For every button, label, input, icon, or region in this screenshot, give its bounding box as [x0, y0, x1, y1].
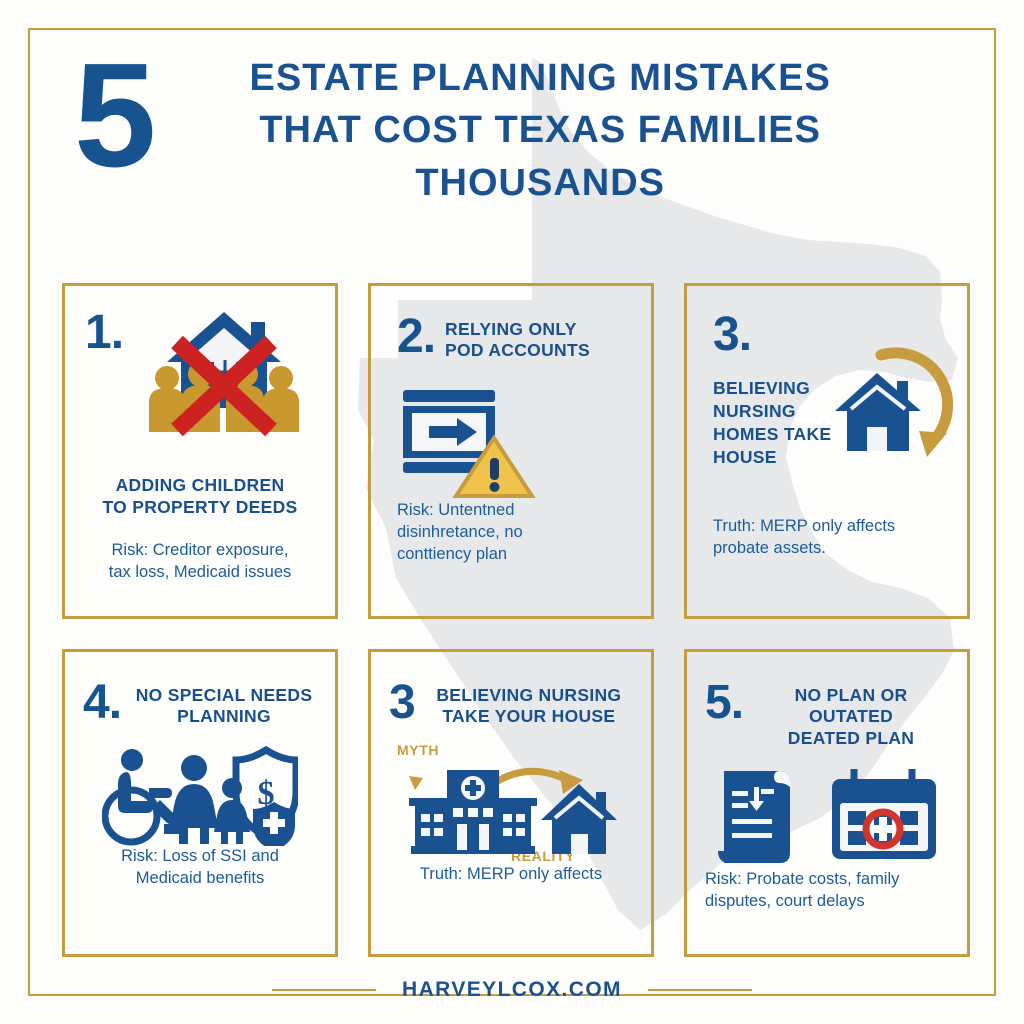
- card-1-risk-line-2: tax loss, Medicaid issues: [85, 562, 315, 584]
- special-needs-shield-icon: $: [83, 746, 317, 846]
- card-4-risk-line-2: Medicaid benefits: [83, 868, 317, 890]
- card-2-title: RELYING ONLY POD ACCOUNTS: [445, 316, 625, 362]
- scroll-calendar-icon: [705, 765, 949, 869]
- card-1-number: 1.: [85, 312, 123, 353]
- card-3-title-line-3: HOMES TAKE: [713, 423, 831, 446]
- card-5-title: BELIEVING NURSING TAKE YOUR HOUSE: [425, 682, 633, 728]
- footer: HARVEYLCOX.COM: [0, 978, 1024, 1002]
- card-2-risk-line-1: Risk: Untentned: [397, 500, 625, 522]
- card-3-title-line-1: BELIEVING: [713, 377, 831, 400]
- page-title: ESTATE PLANNING MISTAKES THAT COST TEXAS…: [152, 52, 1024, 209]
- card-6-number: 5.: [705, 682, 743, 723]
- hospital-to-house-myth-reality-icon: [393, 754, 623, 871]
- card-4-risk: Risk: Loss of SSI and Medicaid benefits: [83, 846, 317, 890]
- house-family-crossed-out-icon: [133, 304, 315, 444]
- card-4-risk-line-1: Risk: Loss of SSI and: [83, 846, 317, 868]
- footer-rule-right: [648, 989, 752, 991]
- card-5-number: 3: [389, 682, 415, 723]
- card-2-risk-line-3: conttiency plan: [397, 544, 625, 566]
- headline-big-number: 5: [74, 48, 152, 184]
- mistake-card-6: 5. NO PLAN OR OUTATED DEATED PLAN: [684, 649, 970, 957]
- mistake-card-5: 3 BELIEVING NURSING TAKE YOUR HOUSE MYTH…: [368, 649, 654, 957]
- card-2-risk: Risk: Untentned disinhretance, no contti…: [397, 500, 625, 566]
- header: 5 ESTATE PLANNING MISTAKES THAT COST TEX…: [0, 52, 1024, 209]
- card-3-title-line-2: NURSING: [713, 400, 831, 423]
- card-1-title-line-2: TO PROPERTY DEEDS: [85, 496, 315, 518]
- card-4-title: NO SPECIAL NEEDS PLANNING: [131, 682, 317, 728]
- card-2-number: 2.: [397, 316, 435, 357]
- card-3-risk-line-1: Truth: MERP only affects: [713, 516, 941, 538]
- card-3-risk-line-2: probate assets.: [713, 538, 941, 560]
- mistake-card-1: 1.: [62, 283, 338, 619]
- mistake-card-4: 4. NO SPECIAL NEEDS PLANNING: [62, 649, 338, 957]
- card-2-title-line-2: POD ACCOUNTS: [445, 340, 625, 361]
- mistake-card-3: 3. BELIEVING NURSING HOMES TAKE HOUSE: [684, 283, 970, 619]
- card-4-title-line-1: NO SPECIAL NEEDS: [131, 685, 317, 706]
- card-5-title-line-2: TAKE YOUR HOUSE: [425, 706, 633, 727]
- infographic-page: 5 ESTATE PLANNING MISTAKES THAT COST TEX…: [0, 0, 1024, 1024]
- footer-rule-left: [272, 989, 376, 991]
- house-circular-arrow-icon: [831, 339, 959, 469]
- bank-transfer-warning-icon: [401, 388, 625, 500]
- footer-website[interactable]: HARVEYLCOX.COM: [402, 978, 622, 1002]
- title-line-2: THAT COST TEXAS FAMILIES: [166, 104, 914, 156]
- card-3-title: BELIEVING NURSING HOMES TAKE HOUSE: [713, 377, 831, 468]
- card-6-risk: Risk: Probate costs, family disputes, co…: [705, 869, 949, 913]
- card-6-title: NO PLAN OR OUTATED DEATED PLAN: [753, 682, 949, 749]
- card-2-risk-line-2: disinhretance, no: [397, 522, 625, 544]
- card-5-title-line-1: BELIEVING NURSING: [425, 685, 633, 706]
- card-1-risk-line-1: Risk: Creditor exposure,: [85, 540, 315, 562]
- card-4-title-line-2: PLANNING: [131, 706, 317, 727]
- card-6-risk-line-2: disputes, court delays: [705, 891, 949, 913]
- card-6-risk-line-1: Risk: Probate costs, family: [705, 869, 949, 891]
- card-6-title-line-1: NO PLAN OR OUTATED: [753, 685, 949, 728]
- card-4-number: 4.: [83, 682, 121, 723]
- card-1-title: ADDING CHILDREN TO PROPERTY DEEDS: [85, 474, 315, 518]
- card-3-title-line-4: HOUSE: [713, 446, 831, 469]
- card-6-title-line-2: DEATED PLAN: [753, 728, 949, 749]
- card-3-risk: Truth: MERP only affects probate assets.: [713, 516, 941, 560]
- mistake-card-2: 2. RELYING ONLY POD ACCOUNTS: [368, 283, 654, 619]
- card-2-title-line-1: RELYING ONLY: [445, 319, 625, 340]
- card-1-risk: Risk: Creditor exposure, tax loss, Medic…: [85, 540, 315, 584]
- mistakes-grid: 1.: [62, 283, 962, 957]
- card-1-title-line-1: ADDING CHILDREN: [85, 474, 315, 496]
- title-line-3: THOUSANDS: [166, 157, 914, 209]
- title-line-1: ESTATE PLANNING MISTAKES: [166, 52, 914, 104]
